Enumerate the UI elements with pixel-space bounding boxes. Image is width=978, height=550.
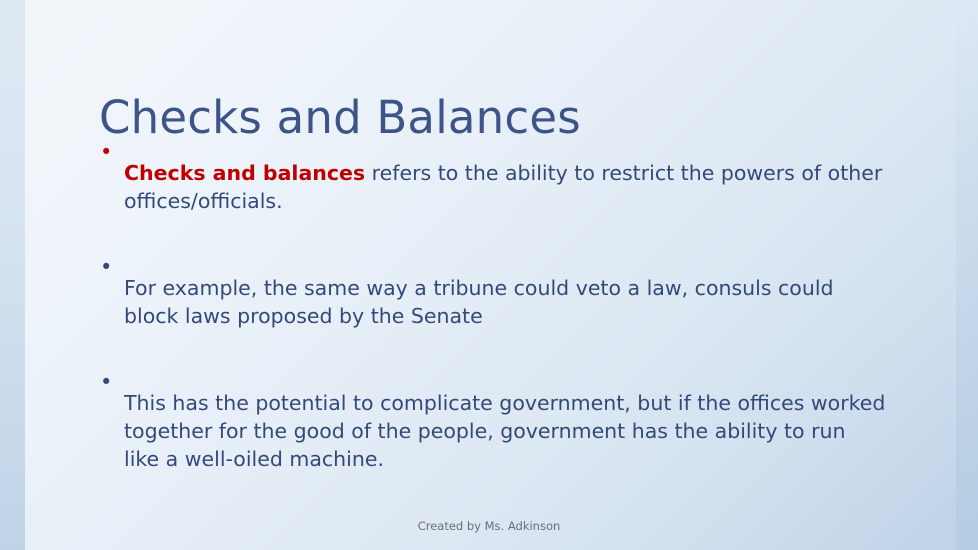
- slide-right-edge-band: [956, 0, 978, 550]
- list-item: • Checks and balances refers to the abil…: [96, 138, 886, 235]
- bullet-point-icon: •: [96, 253, 124, 281]
- slide-footer-credit: Created by Ms. Adkinson: [0, 518, 978, 534]
- bullet-point-icon: •: [96, 368, 124, 396]
- list-item-text: This has the potential to complicate gov…: [124, 389, 886, 473]
- bullet-list: • Checks and balances refers to the abil…: [96, 138, 886, 493]
- list-item-text: For example, the same way a tribune coul…: [124, 274, 886, 330]
- bullet-point-icon: •: [96, 138, 124, 166]
- list-item: • For example, the same way a tribune co…: [96, 253, 886, 350]
- list-item-text: Checks and balances refers to the abilit…: [124, 159, 886, 215]
- slide-left-edge-band: [0, 0, 25, 550]
- list-item-lead-emphasis: Checks and balances: [124, 161, 365, 185]
- list-item: • This has the potential to complicate g…: [96, 368, 886, 493]
- presentation-slide: Checks and Balances • Checks and balance…: [0, 0, 978, 550]
